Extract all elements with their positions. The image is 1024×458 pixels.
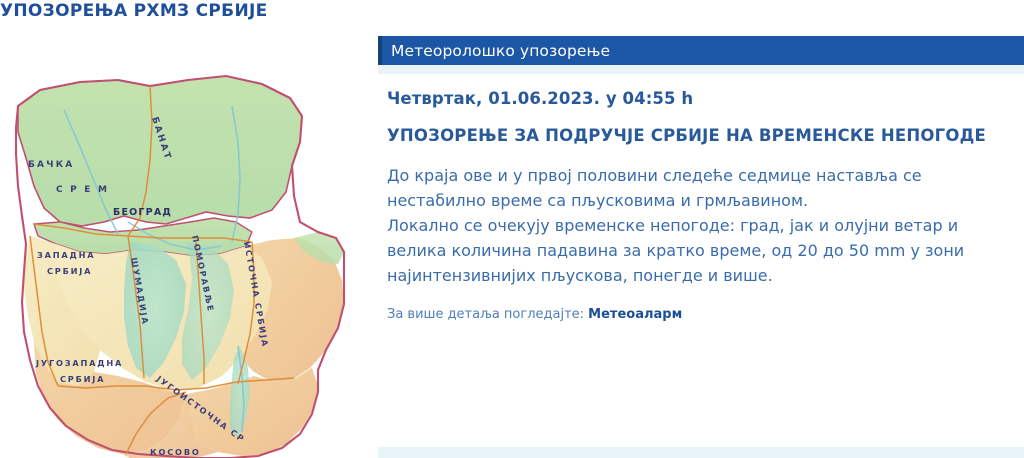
footer-accent-strip: [378, 447, 1024, 458]
map-label-backa: БАЧКА: [28, 160, 74, 170]
panel-header-title: Метеоролошко упозорење: [391, 42, 610, 60]
map-label-zapadna-srbija: ЗАПАДНА: [37, 250, 95, 260]
warning-footer: За више детаља погледајте: Метеоаларм: [387, 306, 1014, 324]
map-label-zapadna-srbija-line2: СРБИЈА: [47, 266, 92, 276]
map-label-kosovo: КОСОВО: [150, 447, 201, 457]
map-label-jugozapadna-srbija-line2: СРБИЈА: [60, 374, 105, 384]
map-label-jugozapadna-srbija: ЈУГОЗАПАДНА: [35, 358, 123, 368]
warning-datetime: Четвртак, 01.06.2023. у 04:55 h: [387, 88, 1014, 110]
header-accent-strip: [378, 65, 1024, 74]
serbia-relief-map: БАЧКА БАНАТ С Р Е М БЕОГРАД ЗАПАДНА СРБИ…: [0, 46, 372, 458]
panel-body: Четвртак, 01.06.2023. у 04:55 h УПОЗОРЕЊ…: [378, 74, 1024, 444]
map-svg: БАЧКА БАНАТ С Р Е М БЕОГРАД ЗАПАДНА СРБИ…: [0, 46, 372, 458]
warning-heading: УПОЗОРЕЊЕ ЗА ПОДРУЧЈЕ СРБИЈЕ НА ВРЕМЕНСК…: [387, 124, 1007, 147]
warning-paragraph-2: Локално се очекују временске непогоде: г…: [387, 213, 999, 288]
map-label-srem: С Р Е М: [56, 185, 109, 195]
map-label-beograd: БЕОГРАД: [113, 207, 172, 218]
panel-header: Метеоролошко упозорење: [378, 36, 1024, 65]
weather-warning-panel: Метеоролошко упозорење Четвртак, 01.06.2…: [378, 36, 1024, 458]
page-title: УПОЗОРЕЊА РХМЗ СРБИЈЕ: [0, 0, 268, 22]
footer-prefix-text: За више детаља погледајте:: [387, 307, 584, 322]
warning-paragraph-1: До краја ове и у првој половини следеће …: [387, 163, 999, 213]
meteoalarm-link[interactable]: Метеоаларм: [588, 307, 682, 322]
weather-warning-page: УПОЗОРЕЊА РХМЗ СРБИЈЕ: [0, 0, 1024, 458]
